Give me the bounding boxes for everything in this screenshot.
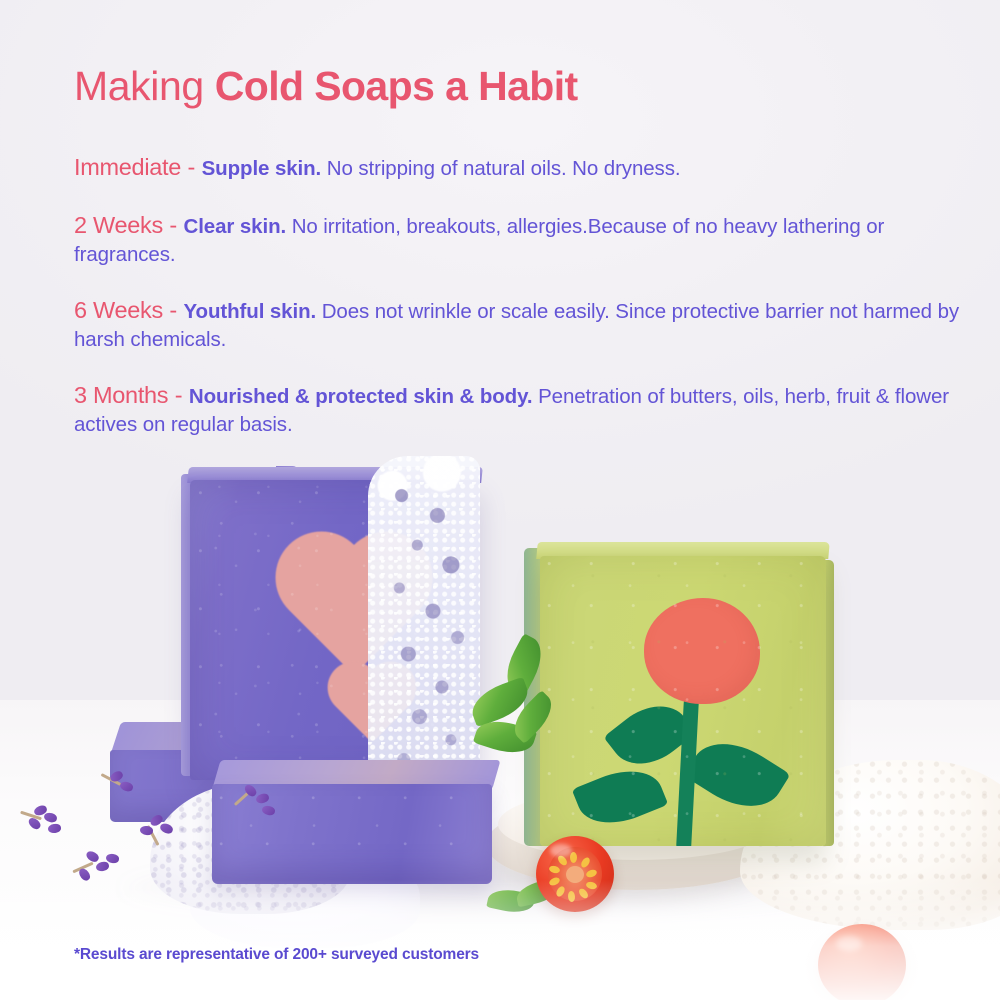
- tomato-core: [566, 866, 584, 883]
- benefit-dash: -: [163, 297, 184, 323]
- benefit-period-label: 2 Weeks: [74, 212, 163, 238]
- benefit-lead-text: Youthful skin.: [184, 300, 317, 323]
- benefit-item-3-months: 3 Months - Nourished & protected skin & …: [74, 380, 964, 439]
- product-photo: [0, 430, 1000, 1000]
- soap-leaf-icon: [683, 727, 790, 824]
- green-flower-soap-bar: [540, 556, 826, 846]
- soap-flower-stem: [676, 698, 699, 846]
- purple-soap-bar-front: [212, 760, 492, 884]
- benefits-list: Immediate - Supple skin. No stripping of…: [74, 152, 964, 438]
- benefit-dash: -: [181, 154, 202, 180]
- headline-light: Making: [74, 63, 215, 109]
- purple-soap-front-face: [212, 784, 492, 884]
- soap-leaf-icon: [572, 758, 669, 836]
- benefit-period-label: 3 Months: [74, 382, 168, 408]
- green-soap-face: [540, 556, 826, 846]
- benefit-period-label: Immediate: [74, 154, 181, 180]
- headline-bold: Cold Soaps a Habit: [215, 63, 578, 109]
- benefit-lead-text: Clear skin.: [184, 215, 287, 238]
- benefit-item-6-weeks: 6 Weeks - Youthful skin. Does not wrinkl…: [74, 295, 964, 354]
- cherry-tomato-half: [536, 836, 614, 912]
- soap-leaf-icon: [603, 690, 696, 779]
- benefit-item-immediate: Immediate - Supple skin. No stripping of…: [74, 152, 964, 183]
- copy-block: Making Cold Soaps a Habit Immediate - Su…: [74, 62, 964, 439]
- page-title: Making Cold Soaps a Habit: [74, 62, 964, 110]
- soap-flower-icon: [644, 598, 760, 704]
- foam-bubble-streak: [368, 456, 480, 786]
- soap-infographic-poster: Making Cold Soaps a Habit Immediate - Su…: [0, 0, 1000, 1000]
- benefit-item-2-weeks: 2 Weeks - Clear skin. No irritation, bre…: [74, 210, 964, 269]
- tomato-seed: [570, 852, 577, 863]
- benefit-period-label: 6 Weeks: [74, 297, 163, 323]
- footnote-disclaimer: *Results are representative of 200+ surv…: [74, 946, 479, 964]
- benefit-dash: -: [168, 382, 189, 408]
- benefit-lead-text: Nourished & protected skin & body.: [189, 385, 533, 408]
- benefit-body-text: No stripping of natural oils. No dryness…: [321, 157, 680, 180]
- cherry-tomato-whole: [818, 924, 906, 1000]
- benefit-dash: -: [163, 212, 184, 238]
- tomato-highlight: [550, 844, 572, 857]
- purple-heart-soap-bar: [190, 480, 480, 780]
- benefit-lead-text: Supple skin.: [202, 157, 322, 180]
